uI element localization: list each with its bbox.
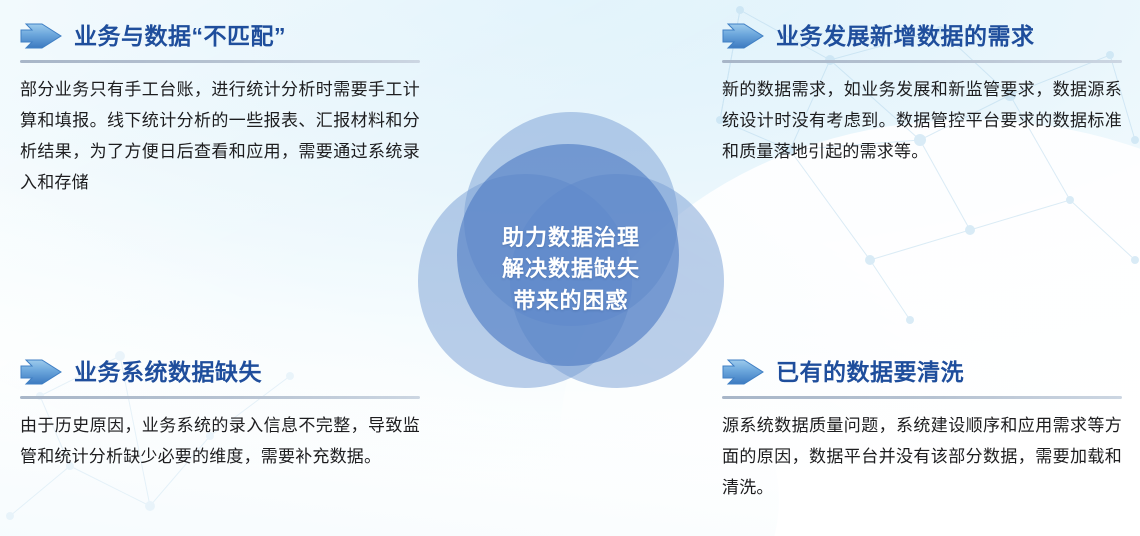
center-caption-line-1: 助力数据治理 xyxy=(502,222,640,253)
panel-divider xyxy=(20,396,420,399)
slide-canvas: 助力数据治理 解决数据缺失 带来的困惑 业务与数据“不匹配” 部分业务只有手工台… xyxy=(0,0,1140,536)
panel-body-text: 部分业务只有手工台账，进行统计分析时需要手工计算和填报。线下统计分析的一些报表、… xyxy=(20,75,420,199)
panel-title: 业务发展新增数据的需求 xyxy=(776,25,1035,48)
panel-body-text: 源系统数据质量问题，系统建设顺序和应用需求等方面的原因，数据平台并没有该部分数据… xyxy=(722,411,1122,504)
center-circles-graphic: 助力数据治理 解决数据缺失 带来的困惑 xyxy=(418,112,724,408)
center-caption: 助力数据治理 解决数据缺失 带来的困惑 xyxy=(418,112,724,408)
panel-header: 业务发展新增数据的需求 xyxy=(722,16,1122,56)
panel-divider xyxy=(722,396,1122,399)
panel-divider xyxy=(20,60,420,63)
arrow-right-icon xyxy=(20,22,62,50)
arrow-right-icon xyxy=(722,358,764,386)
panel-title: 业务与数据“不匹配” xyxy=(74,25,286,48)
panel-header: 业务系统数据缺失 xyxy=(20,352,420,392)
panel-existing-data-cleaning: 已有的数据要清洗 源系统数据质量问题，系统建设顺序和应用需求等方面的原因，数据平… xyxy=(722,352,1122,504)
center-caption-line-3: 带来的困惑 xyxy=(513,285,628,316)
arrow-right-icon xyxy=(20,358,62,386)
panel-new-data-demand: 业务发展新增数据的需求 新的数据需求，如业务发展和新监管要求，数据源系统设计时没… xyxy=(722,16,1122,168)
panel-title: 已有的数据要清洗 xyxy=(776,361,964,384)
panel-business-system-data-missing: 业务系统数据缺失 由于历史原因，业务系统的录入信息不完整，导致监管和统计分析缺少… xyxy=(20,352,420,473)
panel-body-text: 新的数据需求，如业务发展和新监管要求，数据源系统设计时没有考虑到。数据管控平台要… xyxy=(722,75,1122,168)
panel-divider xyxy=(722,60,1122,63)
arrow-right-icon xyxy=(722,22,764,50)
panel-header: 已有的数据要清洗 xyxy=(722,352,1122,392)
center-caption-line-2: 解决数据缺失 xyxy=(502,253,640,284)
panel-header: 业务与数据“不匹配” xyxy=(20,16,420,56)
panel-title: 业务系统数据缺失 xyxy=(74,361,262,384)
panel-body-text: 由于历史原因，业务系统的录入信息不完整，导致监管和统计分析缺少必要的维度，需要补… xyxy=(20,411,420,473)
panel-business-data-mismatch: 业务与数据“不匹配” 部分业务只有手工台账，进行统计分析时需要手工计算和填报。线… xyxy=(20,16,420,199)
